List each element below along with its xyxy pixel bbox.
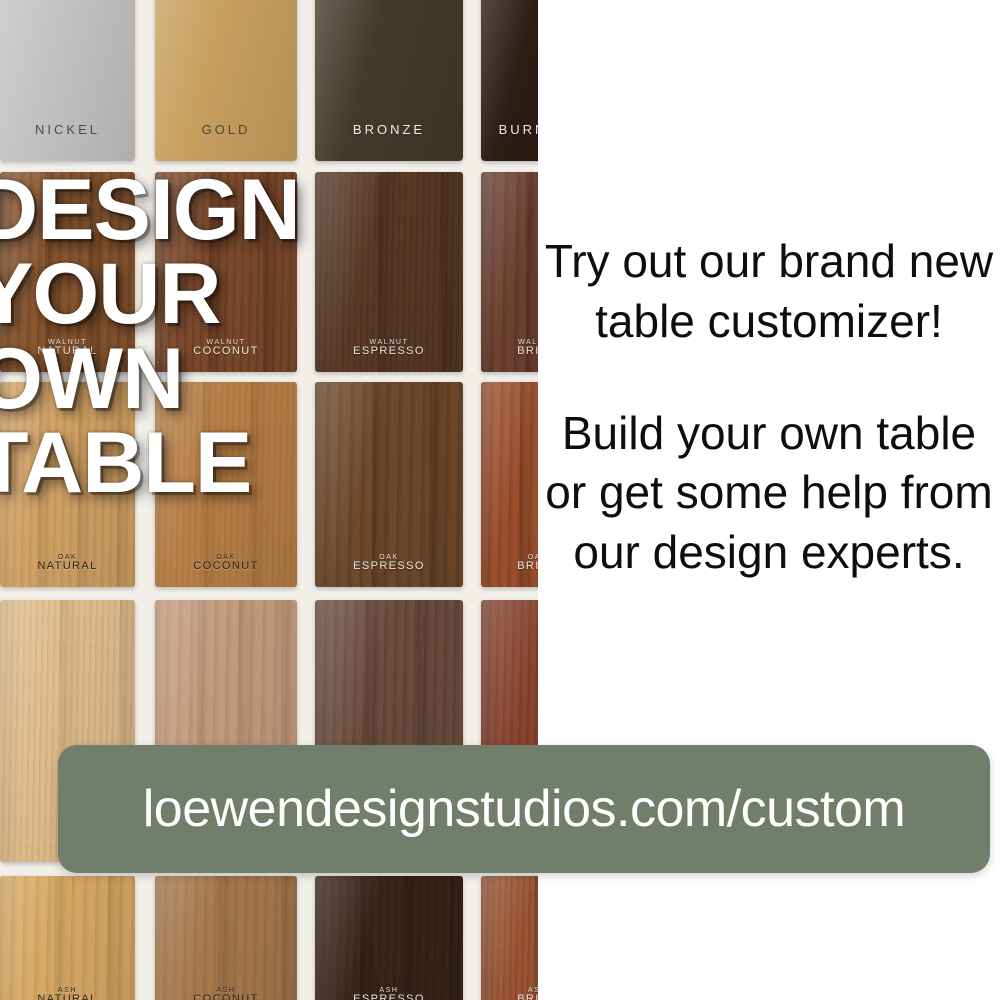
url-text[interactable]: loewendesignstudios.com/custom xyxy=(143,779,906,839)
swatch-sheen xyxy=(481,876,538,1000)
wood-swatch-ash-coconut[interactable]: ASHCOCONUT xyxy=(155,876,297,1000)
swatch-row-metals: NICKELGOLDBRONZEBURNT P xyxy=(0,0,538,161)
wood-swatch-oak-brick[interactable]: OAKBRICK xyxy=(481,382,538,587)
metal-swatch-burnt-penny[interactable]: BURNT P xyxy=(481,0,538,161)
hero-line-2: YOUR xyxy=(0,252,406,336)
wood-swatch-walnut-brick[interactable]: WALNUTBRICK xyxy=(481,172,538,372)
promo-canvas: NICKELGOLDBRONZEBURNT P WALNUTNATURALWAL… xyxy=(0,0,1000,1000)
swatch-sheen xyxy=(0,0,135,161)
swatch-sheen xyxy=(481,0,538,161)
copy-paragraph-1: Try out our brand new table customizer! xyxy=(538,232,1000,352)
swatch-sheen xyxy=(315,0,463,161)
hero-line-3: OWN xyxy=(0,337,406,421)
copy-p1-line-2: table customizer! xyxy=(538,292,1000,352)
swatch-sheen xyxy=(481,172,538,372)
metal-swatch-gold[interactable]: GOLD xyxy=(155,0,297,161)
copy-p1-line-1: Try out our brand new xyxy=(538,232,1000,292)
swatch-sheen xyxy=(481,382,538,587)
swatch-row-ash: ASHNATURALASHCOCONUTASHESPRESSOASHBRICK xyxy=(0,876,538,1000)
metal-swatch-bronze[interactable]: BRONZE xyxy=(315,0,463,161)
copy-paragraph-2: Build your own table or get some help fr… xyxy=(538,404,1000,583)
copy-p2-line-3: our design experts. xyxy=(538,523,1000,583)
wood-swatch-ash-brick[interactable]: ASHBRICK xyxy=(481,876,538,1000)
marketing-copy: Try out our brand new table customizer! … xyxy=(538,232,1000,583)
swatch-sheen xyxy=(0,876,135,1000)
wood-swatch-ash-natural[interactable]: ASHNATURAL xyxy=(0,876,135,1000)
hero-line-1: DESIGN xyxy=(0,168,406,252)
copy-spacer xyxy=(538,352,1000,404)
swatch-sheen xyxy=(315,876,463,1000)
url-banner[interactable]: loewendesignstudios.com/custom xyxy=(58,745,990,873)
copy-p2-line-1: Build your own table xyxy=(538,404,1000,464)
swatch-sheen xyxy=(155,876,297,1000)
swatch-sheen xyxy=(155,0,297,161)
metal-swatch-nickel[interactable]: NICKEL xyxy=(0,0,135,161)
wood-swatch-ash-espresso[interactable]: ASHESPRESSO xyxy=(315,876,463,1000)
hero-line-4: TABLE xyxy=(0,421,406,505)
hero-headline: DESIGN YOUR OWN TABLE xyxy=(0,168,406,505)
copy-p2-line-2: or get some help from xyxy=(538,463,1000,523)
